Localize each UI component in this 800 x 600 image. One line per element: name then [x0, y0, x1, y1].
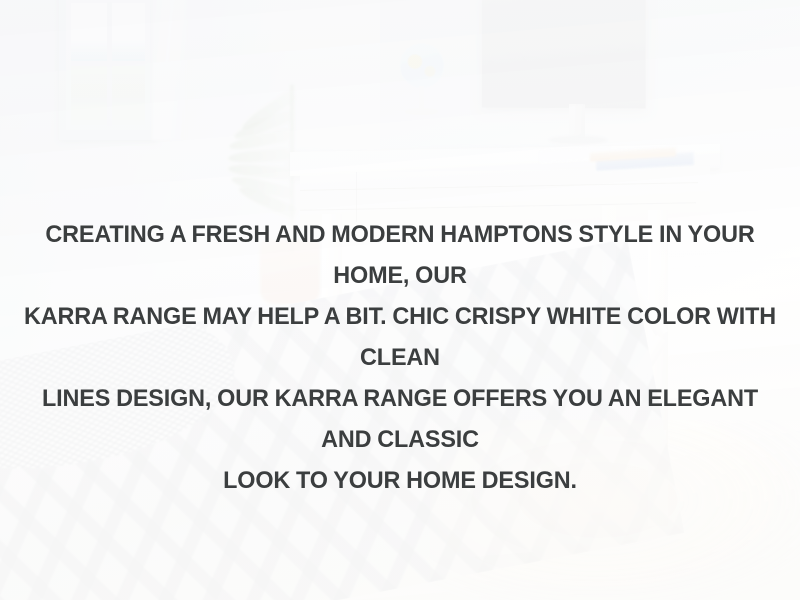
banner-caption: CREATING A FRESH AND MODERN HAMPTONS STY…	[18, 214, 782, 501]
monitor-stand-base	[549, 136, 607, 144]
curtain	[152, 0, 186, 140]
window-pane-bottom-left	[71, 66, 107, 125]
window-sash	[66, 0, 150, 130]
window-pane-bottom-right	[112, 66, 145, 125]
monitor-stand-neck	[569, 104, 585, 138]
globe-base	[405, 108, 438, 115]
window-pane-top-right	[112, 3, 145, 61]
window-pane-top-left	[71, 3, 107, 61]
banner-image: CREATING A FRESH AND MODERN HAMPTONS STY…	[0, 0, 800, 600]
globe-stem	[419, 86, 424, 110]
window-mullion-horizontal	[71, 61, 145, 66]
globe-sphere	[400, 44, 444, 88]
window	[59, 0, 157, 140]
monitor-screen	[482, 0, 646, 109]
